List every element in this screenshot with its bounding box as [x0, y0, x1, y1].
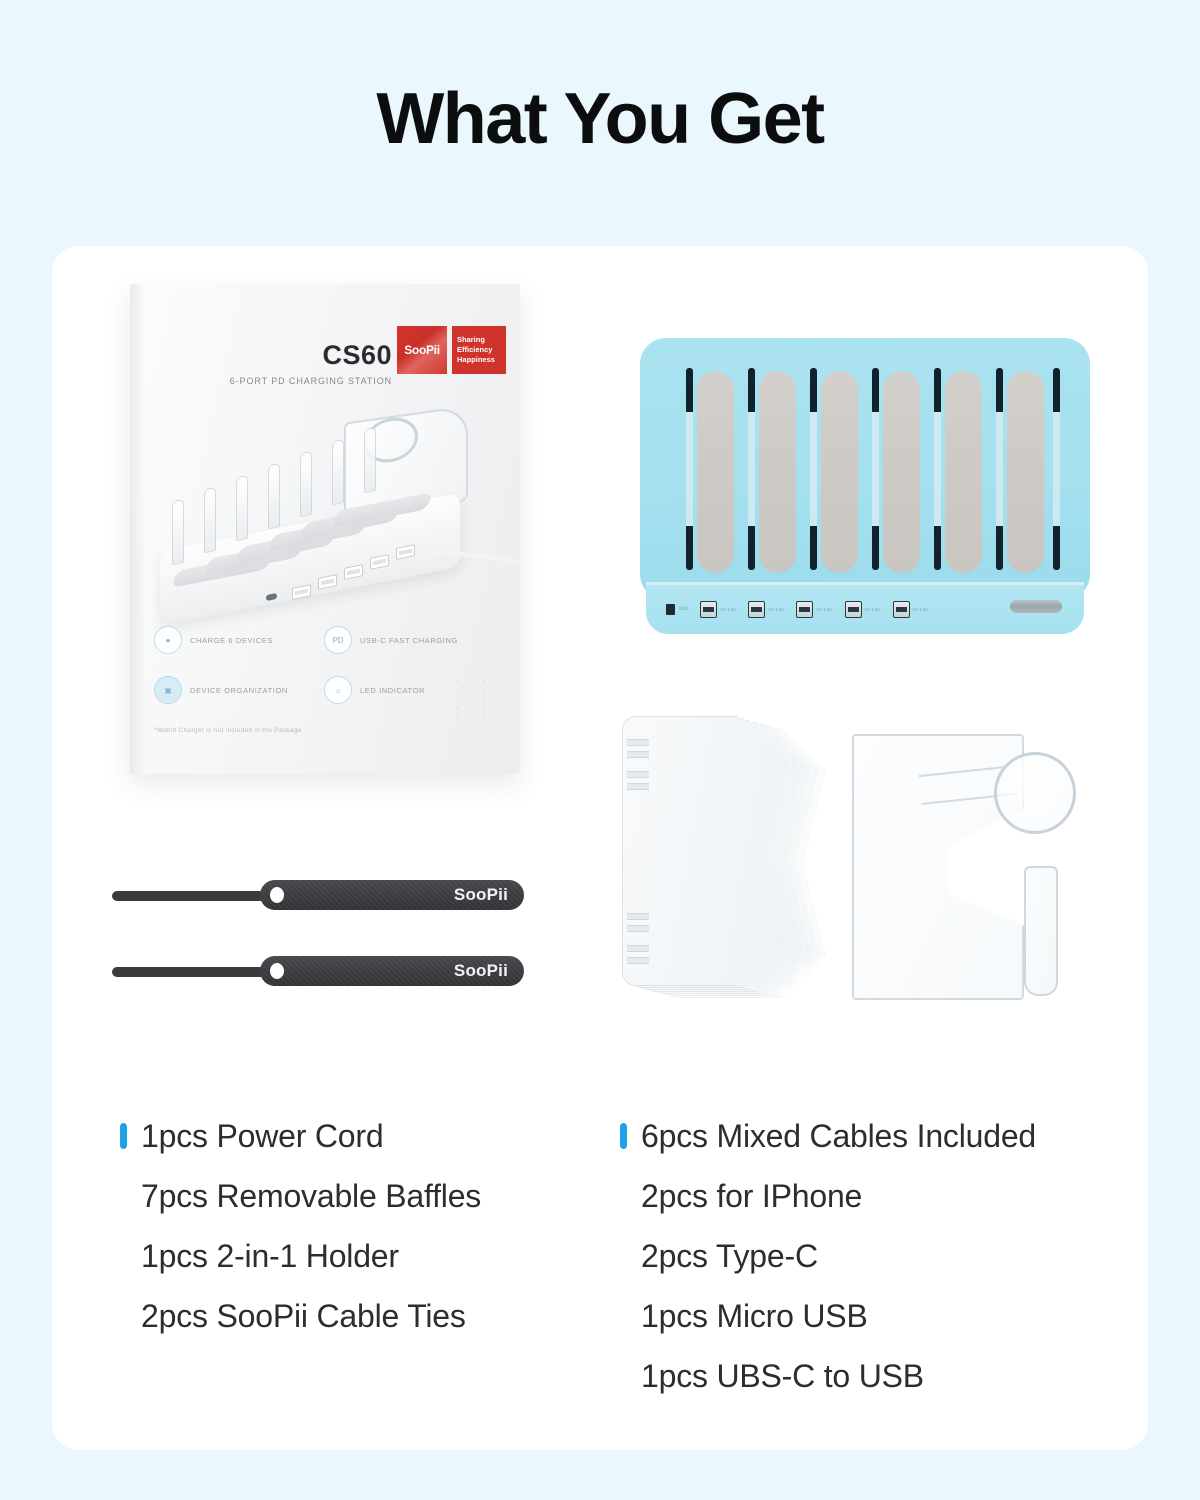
- station-slot: [870, 368, 932, 576]
- usb-port[interactable]: 5V 2.4A: [893, 601, 929, 618]
- tagline-line-2: Efficiency: [457, 345, 506, 355]
- station-slot: [994, 368, 1056, 576]
- soopii-logo-badge: SooPii: [397, 326, 447, 374]
- list-item-label: 7pcs Removable Baffles: [141, 1178, 481, 1215]
- cable-tie: SooPii: [112, 880, 524, 910]
- station-body: [640, 338, 1090, 600]
- page-title: What You Get: [0, 78, 1200, 160]
- list-item: 1pcs Micro USB: [620, 1286, 1090, 1346]
- accent-bullet: [120, 1183, 127, 1209]
- feature-label: CHARGE 6 DEVICES: [190, 636, 273, 645]
- watch-charger-ring-icon: [994, 752, 1076, 834]
- list-item-label: 1pcs Micro USB: [641, 1298, 868, 1335]
- device-stack-icon: ▣: [154, 676, 182, 704]
- list-item-label: 1pcs Power Cord: [141, 1118, 383, 1155]
- usb-port-label: 5V 2.4A: [913, 607, 929, 612]
- list-item-label: 6pcs Mixed Cables Included: [641, 1118, 1036, 1155]
- list-item: 1pcs 2-in-1 Holder: [120, 1226, 620, 1286]
- station-slot: [746, 368, 808, 576]
- product-model-name: CS60: [230, 340, 392, 371]
- illustration-baffle: [364, 427, 376, 493]
- product-package-box: SooPii Sharing Efficiency Happiness CS60…: [130, 284, 520, 774]
- list-item: 1pcs UBS-C to USB: [620, 1346, 1090, 1406]
- feature-usb-c-fast-charging: PD USB-C FAST CHARGING: [324, 626, 494, 654]
- usb-port-label: 5V 2.4A: [865, 607, 881, 612]
- accent-bullet: [120, 1303, 127, 1329]
- illustration-power-cord: [422, 548, 520, 595]
- power-switch-icon[interactable]: [666, 604, 675, 615]
- list-item-label: 1pcs UBS-C to USB: [641, 1358, 924, 1395]
- usb-port[interactable]: 5V 2.4A: [845, 601, 881, 618]
- illustration-baffle: [172, 499, 184, 565]
- illustration-baffle: [236, 475, 248, 541]
- baffle-notch: [627, 945, 649, 952]
- package-contents-lists: 1pcs Power Cord 7pcs Removable Baffles 1…: [52, 1106, 1148, 1406]
- accent-bullet: [120, 1243, 127, 1269]
- station-baffle: [686, 368, 693, 570]
- cable-tie-brand: SooPii: [454, 885, 508, 905]
- station-baffle: [996, 368, 1003, 570]
- accent-bullet: [620, 1243, 627, 1269]
- cable-tie-body: SooPii: [260, 956, 524, 986]
- station-baffle: [748, 368, 755, 570]
- baffle-notch: [627, 913, 649, 920]
- usb-port-label: 5V 2.4A: [768, 607, 784, 612]
- brand-badge-group: SooPii Sharing Efficiency Happiness: [397, 326, 506, 374]
- cable-tie-brand: SooPii: [454, 961, 508, 981]
- cable-tie: SooPii: [112, 956, 524, 986]
- accent-bullet: [620, 1123, 627, 1149]
- illustration-usb-port: [292, 584, 311, 600]
- accent-bullet: [620, 1363, 627, 1389]
- contents-left-column: 1pcs Power Cord 7pcs Removable Baffles 1…: [120, 1106, 620, 1406]
- list-item: 6pcs Mixed Cables Included: [620, 1106, 1090, 1166]
- station-pad: [821, 371, 858, 573]
- feature-device-organization: ▣ DEVICE ORGANIZATION: [154, 676, 324, 704]
- baffle-notch: [627, 739, 649, 746]
- list-item: 2pcs for IPhone: [620, 1166, 1090, 1226]
- usb-port-label: 5V 2.4A: [816, 607, 832, 612]
- cable-tie-hole: [270, 963, 284, 979]
- usb-port[interactable]: 5V 2.4A: [796, 601, 832, 618]
- station-pad: [697, 371, 734, 573]
- station-slot: [808, 368, 870, 576]
- list-item-label: 2pcs SooPii Cable Ties: [141, 1298, 466, 1335]
- illustration-baffle: [268, 463, 280, 529]
- usb-port-icon: [893, 601, 910, 618]
- list-item-label: 2pcs for IPhone: [641, 1178, 862, 1215]
- removable-baffles-stack: [622, 716, 832, 996]
- holder-clip: [1024, 866, 1058, 996]
- usb-port[interactable]: 5V 2.4A: [748, 601, 784, 618]
- cable-tie-hole: [270, 887, 284, 903]
- station-pad: [759, 371, 796, 573]
- cable-tie-body: SooPii: [260, 880, 524, 910]
- list-item: 7pcs Removable Baffles: [120, 1166, 620, 1226]
- brand-tagline-badge: Sharing Efficiency Happiness: [452, 326, 506, 374]
- package-footnote: *Watch Charger is not included in the Pa…: [154, 727, 302, 734]
- feature-label: USB-C FAST CHARGING: [360, 636, 458, 645]
- baffle-notch: [627, 925, 649, 932]
- station-pad: [1007, 371, 1044, 573]
- product-subtitle: 6-PORT PD CHARGING STATION: [230, 376, 392, 386]
- station-slot: [932, 368, 994, 576]
- baffle-notch: [627, 751, 649, 758]
- usb-port-icon: [845, 601, 862, 618]
- list-item-label: 1pcs 2-in-1 Holder: [141, 1238, 399, 1275]
- baffle-notch: [627, 783, 649, 790]
- station-pad: [883, 371, 920, 573]
- usb-port-icon: [796, 601, 813, 618]
- led-indicator: [1010, 600, 1062, 613]
- usb-port-icon: [700, 601, 717, 618]
- two-in-one-holder: [852, 734, 1082, 1002]
- illustration-baffle: [204, 487, 216, 553]
- station-slot: [684, 368, 746, 576]
- accent-bullet: [120, 1123, 127, 1149]
- usb-port[interactable]: 5V 2.4A: [700, 601, 736, 618]
- cable-ties-group: SooPii SooPii: [112, 880, 542, 998]
- baffle-notch: [627, 957, 649, 964]
- baffle-sheet-top: [622, 716, 782, 986]
- accent-bullet: [620, 1303, 627, 1329]
- package-product-illustration: [148, 404, 506, 614]
- feature-label: DEVICE ORGANIZATION: [190, 686, 288, 695]
- power-drop-icon: ●: [154, 626, 182, 654]
- package-feature-list: ● CHARGE 6 DEVICES PD USB-C FAST CHARGIN…: [154, 626, 494, 704]
- station-baffle: [810, 368, 817, 570]
- pd-icon: PD: [324, 626, 352, 654]
- list-item: 2pcs SooPii Cable Ties: [120, 1286, 620, 1346]
- accent-bullet: [620, 1183, 627, 1209]
- list-item-label: 2pcs Type-C: [641, 1238, 818, 1275]
- switch-label: Max: [679, 606, 688, 612]
- usb-port-icon: [748, 601, 765, 618]
- station-pad: [945, 371, 982, 573]
- package-title-block: CS60 6-PORT PD CHARGING STATION: [230, 340, 392, 386]
- station-slot-area: [684, 368, 1056, 576]
- feature-label: LED INDICATOR: [360, 686, 425, 695]
- station-baffle: [872, 368, 879, 570]
- tagline-line-3: Happiness: [457, 355, 506, 365]
- illustration-baffle: [332, 439, 344, 505]
- station-port-row: Max 5V 2.4A 5V 2.4A 5V 2.4A 5V 2.4A 5V 2…: [666, 596, 1066, 622]
- content-card: SooPii Sharing Efficiency Happiness CS60…: [52, 246, 1148, 1450]
- station-baffle: [934, 368, 941, 570]
- soopii-logo-text: SooPii: [404, 343, 440, 357]
- list-item: 1pcs Power Cord: [120, 1106, 620, 1166]
- led-sun-icon: ☼: [324, 676, 352, 704]
- baffle-notch: [627, 771, 649, 778]
- decorative-dot-grid: [456, 680, 498, 722]
- charging-station-product: Max 5V 2.4A 5V 2.4A 5V 2.4A 5V 2.4A 5V 2…: [640, 338, 1090, 648]
- usb-port-label: 5V 2.4A: [720, 607, 736, 612]
- illustration-baffle: [300, 451, 312, 517]
- feature-charge-6-devices: ● CHARGE 6 DEVICES: [154, 626, 324, 654]
- list-item: 2pcs Type-C: [620, 1226, 1090, 1286]
- station-baffle: [1053, 368, 1060, 570]
- tagline-line-1: Sharing: [457, 335, 506, 345]
- contents-right-column: 6pcs Mixed Cables Included 2pcs for IPho…: [620, 1106, 1090, 1406]
